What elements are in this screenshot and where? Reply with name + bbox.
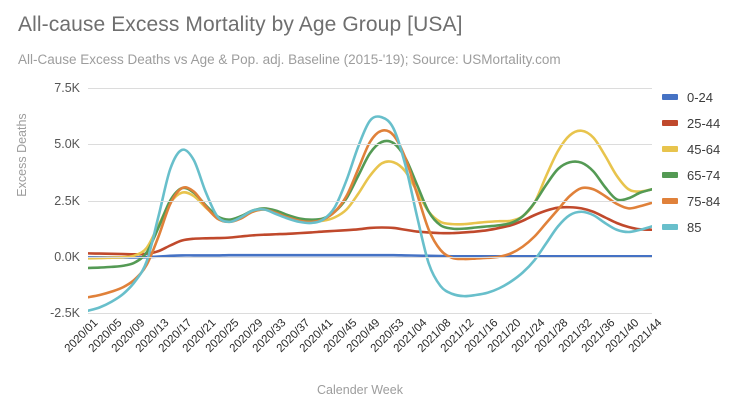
legend-swatch-icon (662, 146, 678, 152)
gridline (88, 144, 652, 145)
legend-item-label: 65-74 (687, 168, 720, 183)
y-axis-tick-label: -2.5K (2, 306, 80, 320)
legend-swatch-icon (662, 224, 678, 230)
legend-swatch-icon (662, 94, 678, 100)
legend-item-85[interactable]: 85 (662, 214, 750, 240)
x-axis-title: Calender Week (0, 383, 720, 397)
series-line-85 (88, 116, 652, 310)
page-title: All-cause Excess Mortality by Age Group … (18, 13, 463, 37)
y-axis-tick-label: 2.5K (2, 194, 80, 208)
gridline (88, 88, 652, 89)
legend-item-0-24[interactable]: 0-24 (662, 84, 750, 110)
x-axis-tick-labels: 2020/012020/052020/092020/132020/172020/… (88, 313, 652, 373)
legend-swatch-icon (662, 198, 678, 204)
gridline (88, 257, 652, 258)
legend-item-45-64[interactable]: 45-64 (662, 136, 750, 162)
legend-item-65-74[interactable]: 65-74 (662, 162, 750, 188)
series-line-25-44 (88, 207, 652, 254)
legend-item-label: 85 (687, 220, 701, 235)
chart-screenshot: All-cause Excess Mortality by Age Group … (0, 0, 750, 419)
legend-item-25-44[interactable]: 25-44 (662, 110, 750, 136)
legend-item-75-84[interactable]: 75-84 (662, 188, 750, 214)
legend-swatch-icon (662, 172, 678, 178)
chart-subtitle: All-Cause Excess Deaths vs Age & Pop. ad… (18, 52, 561, 67)
series-line-45-64 (88, 131, 652, 259)
gridline (88, 201, 652, 202)
legend-item-label: 45-64 (687, 142, 720, 157)
y-axis-tick-label: 7.5K (2, 81, 80, 95)
legend: 0-2425-4445-6465-7475-8485 (662, 84, 750, 240)
plot-area (88, 88, 652, 313)
y-axis-tick-label: 5.0K (2, 137, 80, 151)
y-axis-tick-label: 0.0K (2, 250, 80, 264)
legend-swatch-icon (662, 120, 678, 126)
legend-item-label: 75-84 (687, 194, 720, 209)
legend-item-label: 0-24 (687, 90, 713, 105)
y-axis-tick-labels: 7.5K5.0K2.5K0.0K-2.5K (0, 88, 80, 313)
legend-item-label: 25-44 (687, 116, 720, 131)
